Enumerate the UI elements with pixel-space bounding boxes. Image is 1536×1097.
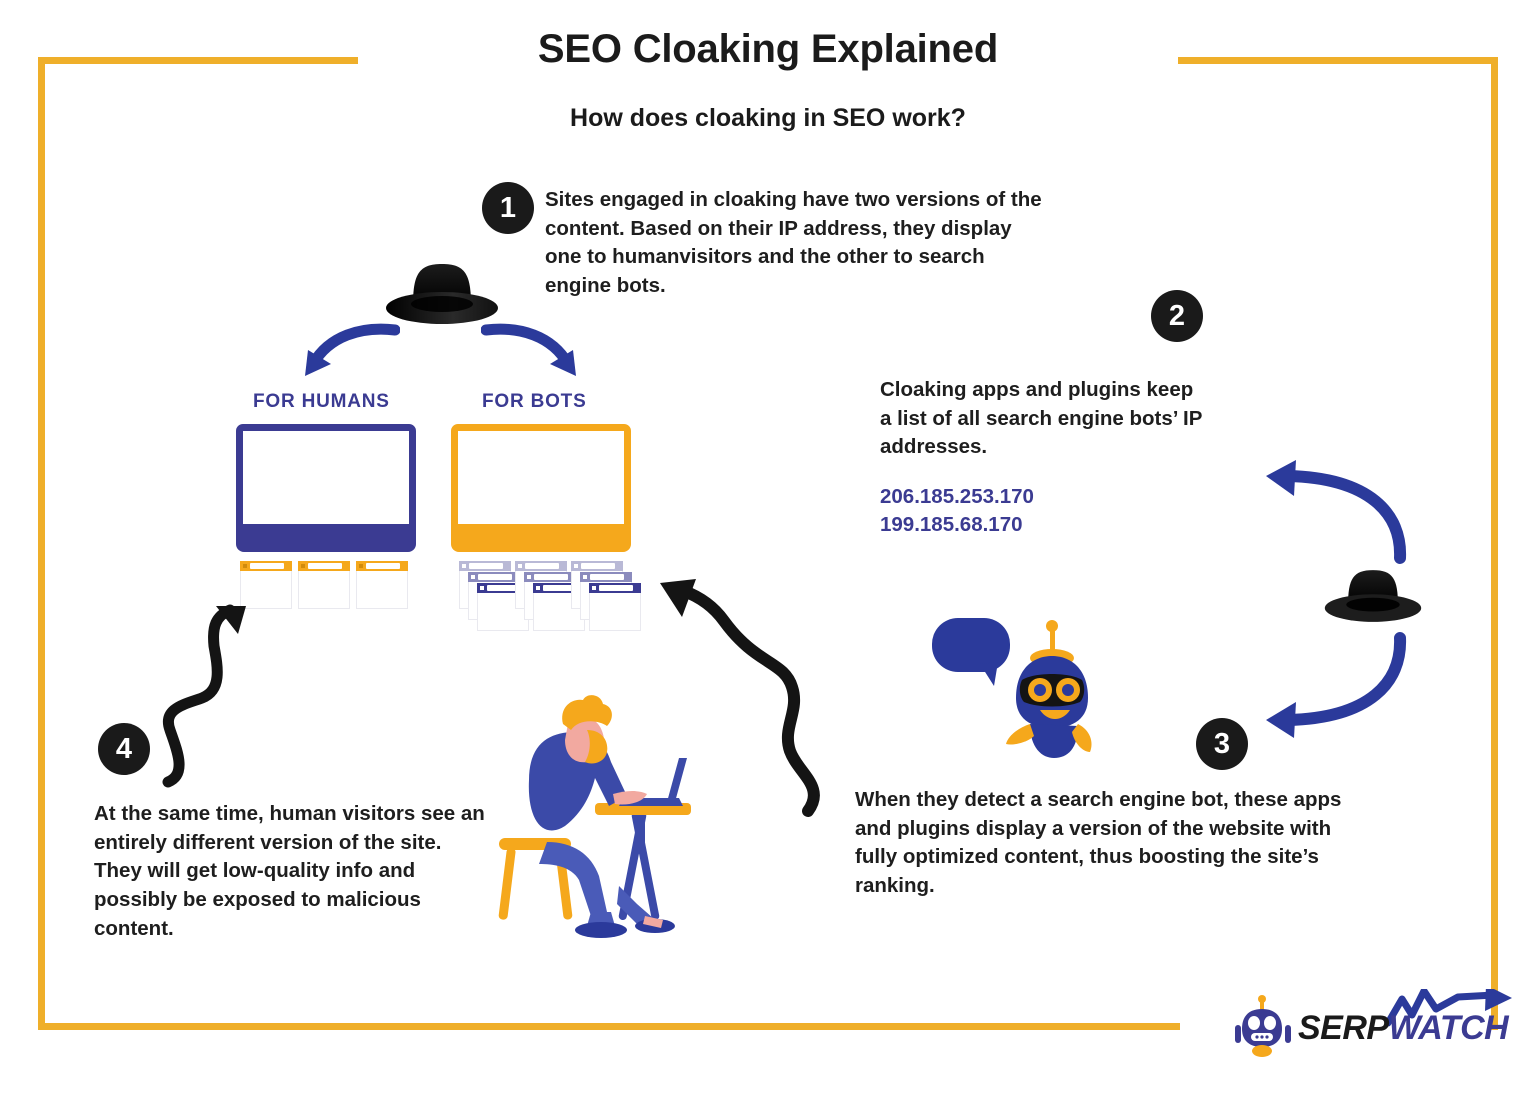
window-dot-icon: [583, 575, 587, 579]
curved-arrow-cycle-bottom-icon: [1252, 630, 1412, 740]
window-card: [298, 561, 350, 609]
window-dot-icon: [518, 564, 522, 568]
curved-arrow-right-icon: [481, 320, 586, 382]
window-address-field: [478, 574, 512, 580]
window-dot-icon: [243, 564, 247, 568]
monitor-base-humans: [236, 524, 416, 552]
step-badge-4: 4: [98, 723, 150, 775]
window-titlebar: [356, 561, 408, 571]
screen-label-humans: FOR HUMANS: [253, 391, 390, 413]
page-subtitle: How does cloaking in SEO work?: [0, 104, 1536, 133]
step-badge-2: 2: [1151, 290, 1203, 342]
window-dot-icon: [592, 586, 596, 590]
window-address-field: [581, 563, 615, 569]
step-badge-1: 1: [482, 182, 534, 234]
window-dot-icon: [359, 564, 363, 568]
window-titlebar: [298, 561, 350, 571]
monitor-for-bots: [451, 424, 631, 552]
frame-border-left: [38, 57, 45, 1030]
logo-text-serp: SERP: [1298, 1009, 1389, 1047]
step-text-1: Sites engaged in cloaking have two versi…: [545, 186, 1045, 301]
window-titlebar: [524, 572, 576, 582]
window-titlebar: [468, 572, 520, 582]
ip-address-item: 206.185.253.170: [880, 483, 1034, 511]
frame-border-bottom: [38, 1023, 1180, 1030]
window-titlebar: [240, 561, 292, 571]
ip-address-list: 206.185.253.170 199.185.68.170: [880, 483, 1034, 540]
robot-mascot-icon: [930, 612, 1102, 760]
window-dot-icon: [301, 564, 305, 568]
monitor-screen-humans: [236, 424, 416, 532]
window-titlebar: [571, 561, 623, 571]
squiggly-arrow-up-icon: [152, 592, 272, 790]
squiggly-arrow-up-left-icon: [648, 573, 848, 823]
window-dot-icon: [471, 575, 475, 579]
curved-arrow-cycle-top-icon: [1252, 458, 1412, 568]
monitor-base-bots: [451, 524, 631, 552]
window-address-field: [469, 563, 503, 569]
speech-bubble-icon: [932, 618, 1010, 686]
step-text-4: At the same time, human visitors see an …: [94, 800, 494, 943]
screen-label-bots: FOR BOTS: [482, 391, 587, 413]
window-address-field: [250, 563, 284, 569]
step-badge-3: 3: [1196, 718, 1248, 770]
frame-border-right: [1491, 57, 1498, 1030]
serpwatch-logo[interactable]: SERPWATCH: [1234, 995, 1292, 1062]
window-card: [356, 561, 408, 609]
window-dot-icon: [574, 564, 578, 568]
monitor-screen-bots: [451, 424, 631, 532]
bowler-hat-icon: [1322, 565, 1424, 627]
window-address-field: [590, 574, 624, 580]
infographic-canvas: SEO Cloaking Explained How does cloaking…: [0, 0, 1536, 1097]
curved-arrow-left-icon: [295, 320, 400, 382]
window-address-field: [599, 585, 633, 591]
step-text-2: Cloaking apps and plugins keep a list of…: [880, 376, 1210, 462]
window-address-field: [534, 574, 568, 580]
window-titlebar: [589, 583, 641, 593]
window-titlebar: [459, 561, 511, 571]
page-title: SEO Cloaking Explained: [0, 27, 1536, 72]
monitor-for-humans: [236, 424, 416, 552]
window-titlebar: [580, 572, 632, 582]
window-dot-icon: [527, 575, 531, 579]
step-text-3: When they detect a search engine bot, th…: [855, 786, 1355, 901]
logo-wordmark: SERPWATCH: [1298, 1009, 1508, 1048]
window-card: [589, 583, 641, 631]
logo-text-watch: WATCH: [1389, 1009, 1509, 1047]
window-dot-icon: [536, 586, 540, 590]
robot-logo-icon: [1234, 995, 1292, 1057]
ip-address-item: 199.185.68.170: [880, 511, 1034, 539]
window-dot-icon: [462, 564, 466, 568]
window-address-field: [366, 563, 400, 569]
window-dot-icon: [480, 586, 484, 590]
window-address-field: [308, 563, 342, 569]
window-titlebar: [515, 561, 567, 571]
window-address-field: [525, 563, 559, 569]
